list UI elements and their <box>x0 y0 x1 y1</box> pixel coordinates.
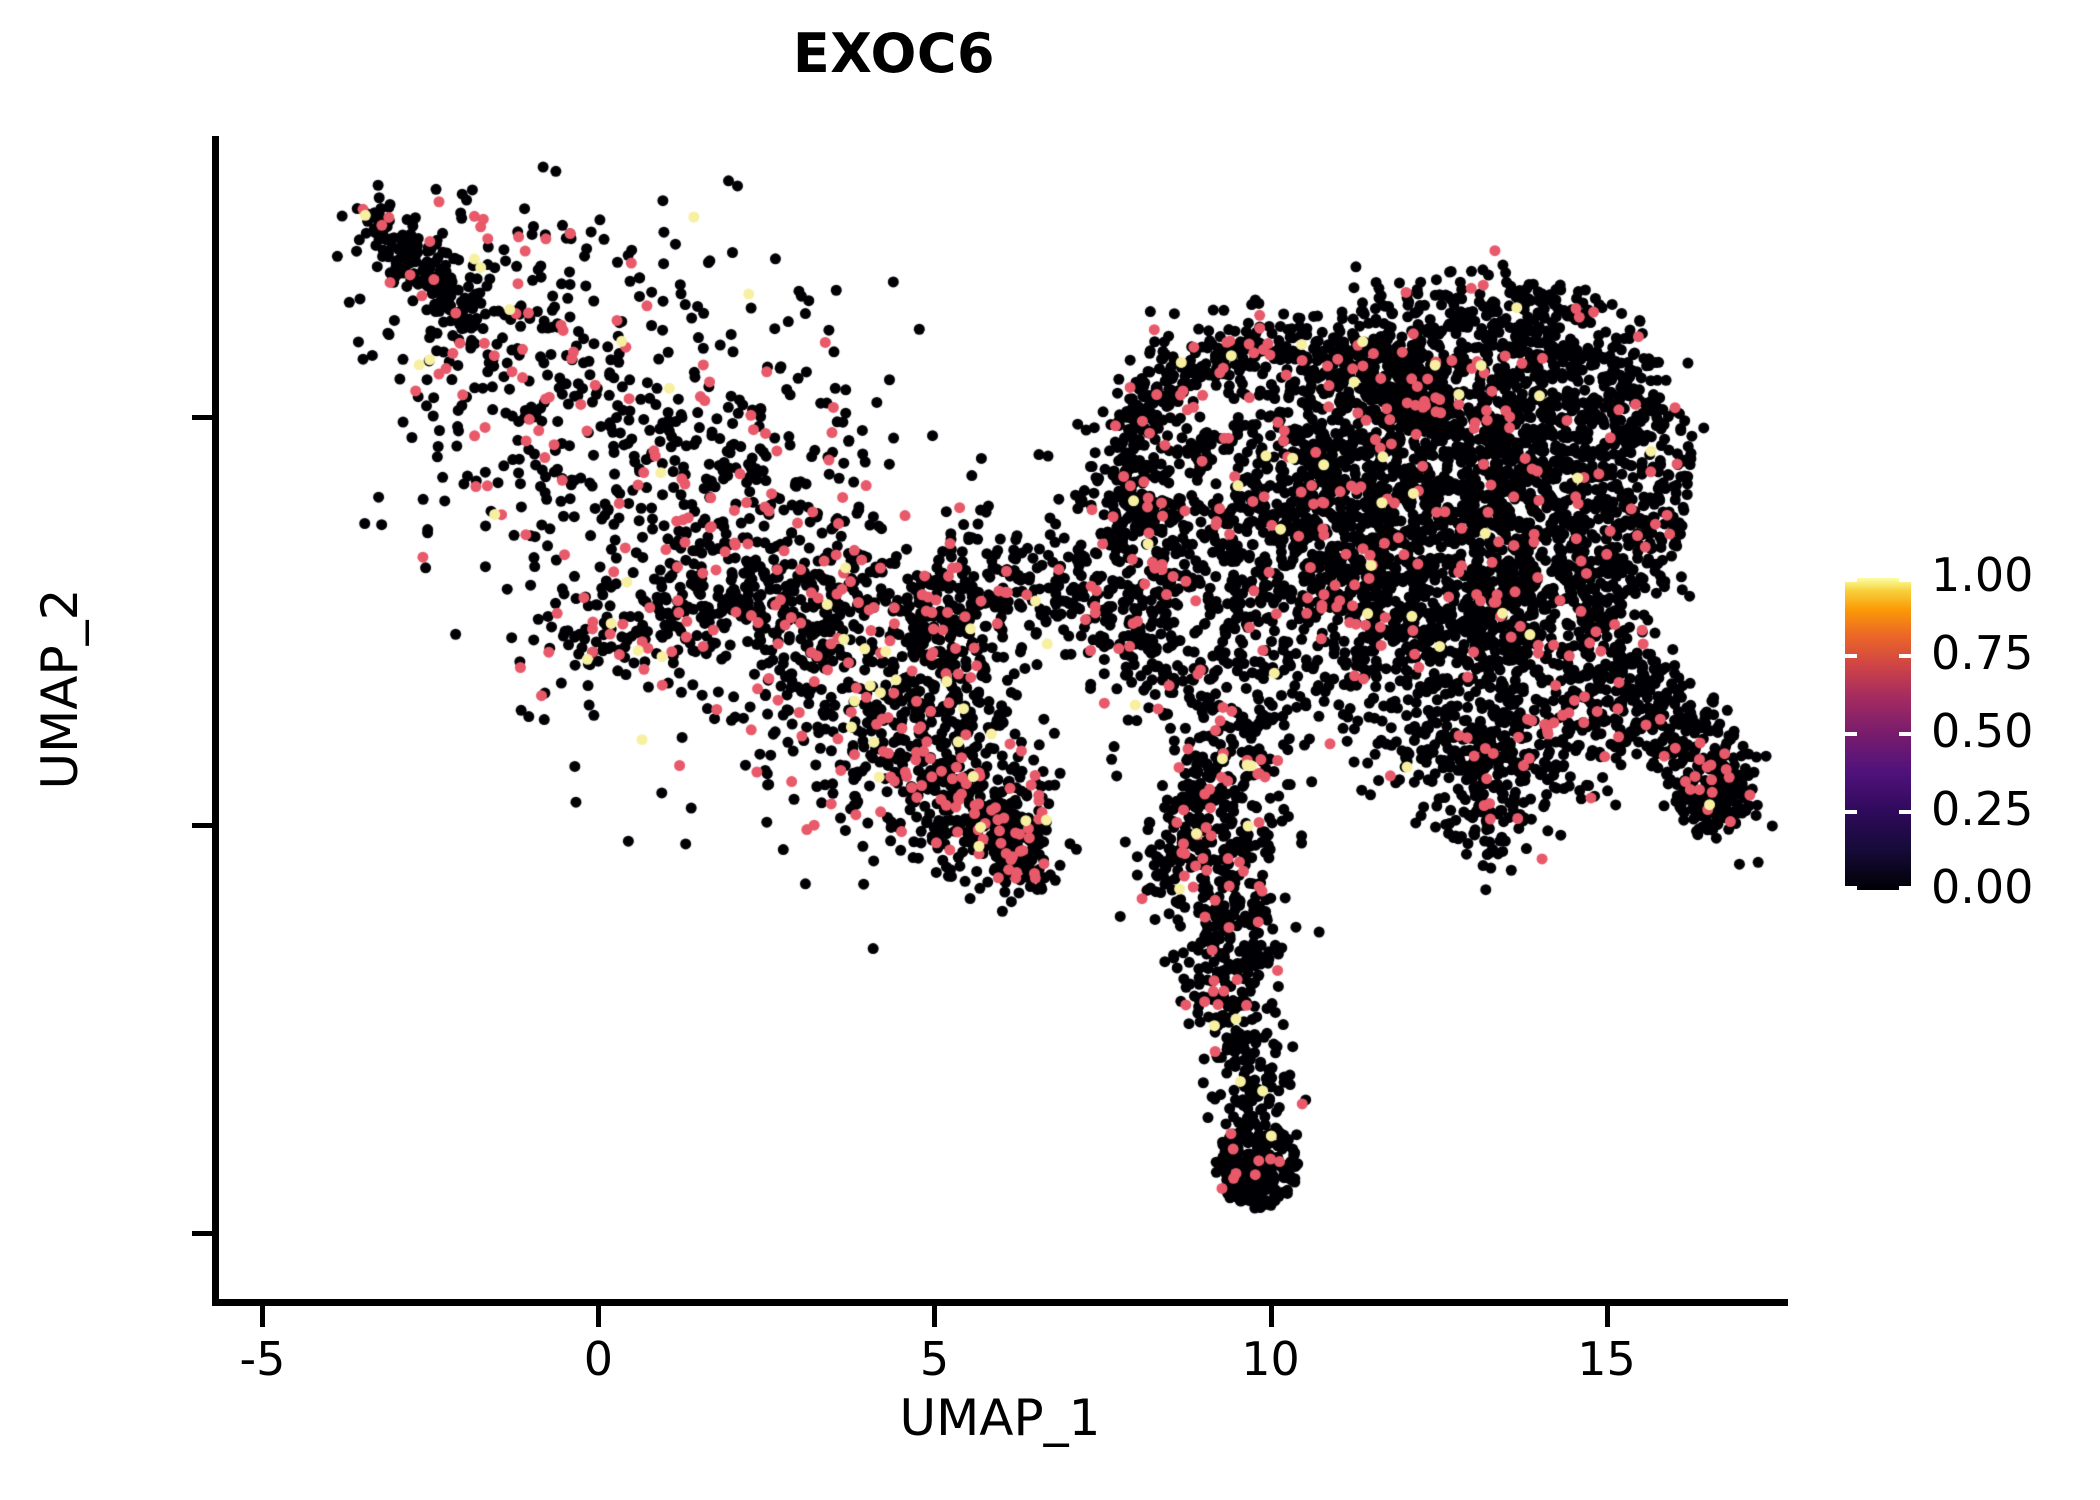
y-axis-label: UMAP_2 <box>31 289 89 1089</box>
figure-root: EXOC6 0510-5051015 UMAP_1 UMAP_2 1.000.7… <box>0 0 2100 1500</box>
colorbar-tick-label: 0.50 <box>1931 704 2033 758</box>
y-axis-tick <box>192 823 212 828</box>
y-axis-tick <box>192 415 212 420</box>
x-axis-label: UMAP_1 <box>212 1389 1788 1447</box>
colorbar-tick-label: 0.75 <box>1931 626 2033 680</box>
x-axis-tick <box>932 1306 937 1327</box>
colorbar-tick <box>1845 732 1857 736</box>
colorbar-tick <box>1899 810 1911 814</box>
x-axis-tick-label: -5 <box>182 1332 342 1386</box>
x-axis-tick-label: 15 <box>1527 1332 1687 1386</box>
y-axis-tick <box>192 1231 212 1236</box>
colorbar-tick <box>1899 654 1911 658</box>
colorbar-tick <box>1899 886 1911 890</box>
x-axis-tick-label: 0 <box>518 1332 678 1386</box>
x-axis-tick <box>1269 1306 1274 1327</box>
colorbar-tick-label: 0.00 <box>1931 860 2033 914</box>
y-axis-spine <box>212 136 219 1306</box>
colorbar-tick <box>1845 654 1857 658</box>
colorbar-tick <box>1845 886 1857 890</box>
plot-axes-area: 0510-5051015 <box>212 136 1788 1306</box>
x-axis-tick <box>260 1306 265 1327</box>
colorbar-tick <box>1845 810 1857 814</box>
colorbar-tick <box>1899 578 1911 582</box>
x-axis-tick-label: 5 <box>854 1332 1014 1386</box>
x-axis-spine <box>212 1299 1788 1306</box>
colorbar: 1.000.750.500.250.00 <box>1845 578 2075 890</box>
x-axis-tick <box>1605 1306 1610 1327</box>
page-title: EXOC6 <box>0 22 1788 85</box>
colorbar-tick <box>1845 578 1857 582</box>
colorbar-tick <box>1899 732 1911 736</box>
colorbar-tick-label: 0.25 <box>1931 782 2033 836</box>
colorbar-tick-label: 1.00 <box>1931 548 2033 602</box>
x-axis-tick-label: 10 <box>1191 1332 1351 1386</box>
x-axis-tick <box>596 1306 601 1327</box>
scatter-plot-canvas <box>212 136 1788 1306</box>
